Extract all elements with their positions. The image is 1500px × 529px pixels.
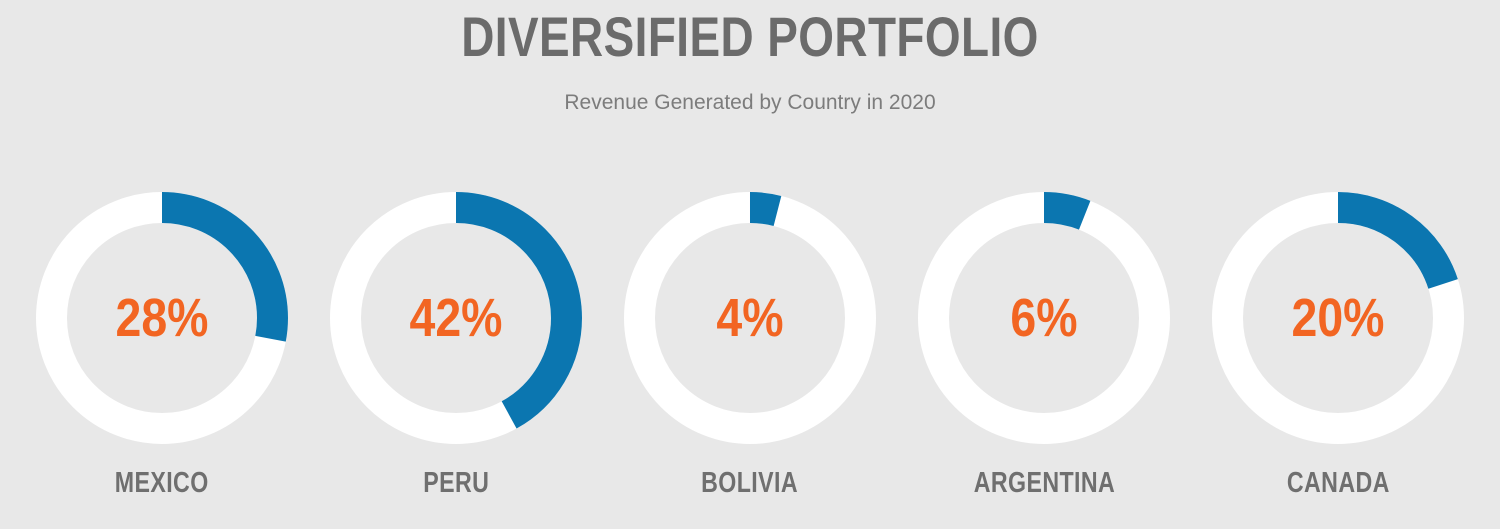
donut-ring-canada: 20% — [1212, 192, 1464, 444]
donut-chart-peru: 42% PERU — [309, 192, 603, 498]
donut-svg-bolivia — [624, 192, 876, 444]
donut-svg-canada — [1212, 192, 1464, 444]
donut-label-canada: CANADA — [1287, 468, 1390, 498]
donut-ring-bolivia: 4% — [624, 192, 876, 444]
donut-chart-row: 28% MEXICO 42% PERU 4% BOLIVI — [0, 192, 1500, 522]
donut-chart-bolivia: 4% BOLIVIA — [603, 192, 897, 498]
infographic-canvas: DIVERSIFIED PORTFOLIO Revenue Generated … — [0, 0, 1500, 529]
donut-ring-mexico: 28% — [36, 192, 288, 444]
donut-ring-peru: 42% — [330, 192, 582, 444]
donut-label-argentina: ARGENTINA — [973, 468, 1115, 498]
page-title: DIVERSIFIED PORTFOLIO — [135, 0, 1365, 68]
donut-track — [934, 208, 1155, 429]
donut-label-peru: PERU — [423, 468, 489, 498]
header: DIVERSIFIED PORTFOLIO Revenue Generated … — [0, 0, 1500, 116]
donut-svg-argentina — [918, 192, 1170, 444]
donut-ring-argentina: 6% — [918, 192, 1170, 444]
page-subtitle: Revenue Generated by Country in 2020 — [0, 68, 1500, 116]
donut-svg-mexico — [36, 192, 288, 444]
donut-chart-canada: 20% CANADA — [1191, 192, 1485, 498]
donut-label-bolivia: BOLIVIA — [702, 468, 799, 498]
donut-chart-mexico: 28% MEXICO — [15, 192, 309, 498]
donut-track — [640, 208, 861, 429]
donut-svg-peru — [330, 192, 582, 444]
donut-chart-argentina: 6% ARGENTINA — [897, 192, 1191, 498]
donut-label-mexico: MEXICO — [115, 468, 209, 498]
